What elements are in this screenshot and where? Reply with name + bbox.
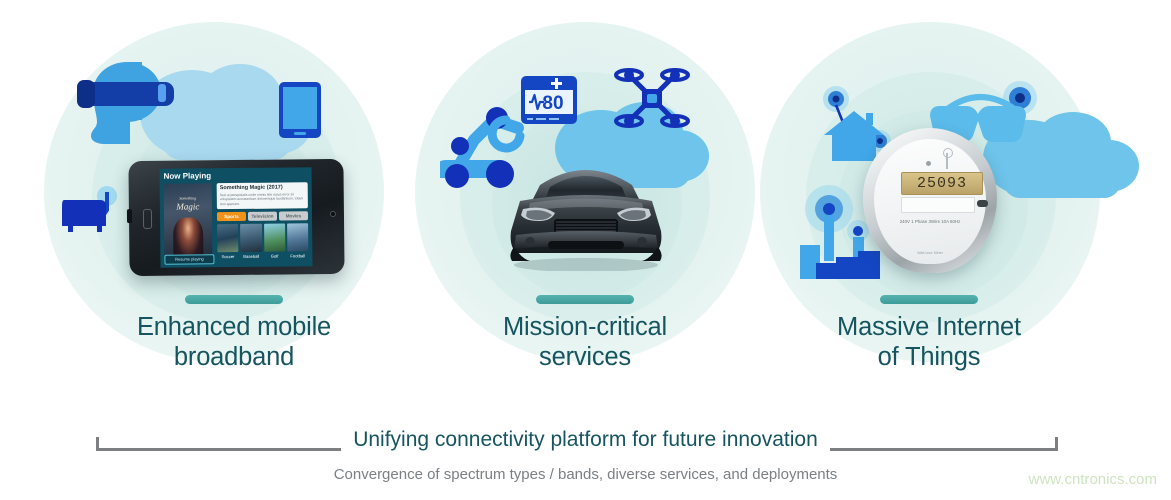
footer-subtitle: Convergence of spectrum types / bands, d… xyxy=(0,466,1171,483)
smartphone-device: Now Playing Something Magic Resume playi… xyxy=(128,159,344,276)
phone-home-button[interactable] xyxy=(143,209,152,229)
footer-title: Unifying connectivity platform for futur… xyxy=(341,428,830,451)
thumbnail-image xyxy=(217,224,239,252)
patient-monitor-icon: 80 xyxy=(521,76,577,124)
meter-probe-icon xyxy=(946,153,948,169)
tv-antenna-icon xyxy=(62,186,118,236)
pillar-mc-accent-bar xyxy=(536,295,634,304)
pillar-embb-label-line2: broadband xyxy=(84,342,384,372)
pillar-mc-label-line1: Mission-critical xyxy=(435,312,735,342)
car-image xyxy=(500,143,672,271)
pillar-embb-label-line1: Enhanced mobile xyxy=(84,312,384,342)
drone-icon xyxy=(613,63,691,135)
thumbnail-row: Soccer Baseball Golf Football xyxy=(217,223,308,258)
tab-sports[interactable]: Sports xyxy=(217,212,246,221)
meter-label-slot xyxy=(901,197,975,213)
pillar-miot-label-line1: Massive Internet xyxy=(779,312,1079,342)
meter-indicator-dot xyxy=(926,161,931,166)
category-tabs: Sports Television Movies xyxy=(217,211,308,221)
poster-main-title: Magic xyxy=(176,201,199,211)
thumbnail-caption: Football xyxy=(287,253,308,258)
poster-title: Something Magic xyxy=(167,193,209,211)
meter-brand-text: Watt-hour Meter xyxy=(874,251,986,255)
monitor-reading: 80 xyxy=(542,93,563,114)
now-playing-heading: Now Playing xyxy=(164,171,212,180)
thumbnail-caption: Soccer xyxy=(217,253,238,258)
meter-face: 25093 240V 1 Phase 3Wire 10A 60Hz Watt-h… xyxy=(874,139,986,264)
movie-info-body: Sed ut perspiciatis unde omnis iste natu… xyxy=(220,192,305,206)
vr-headset-head-icon xyxy=(74,58,180,154)
movie-info-title: Something Magic (2017) xyxy=(220,184,305,191)
thumbnail-caption: Baseball xyxy=(241,253,262,258)
pillar-embb-accent-bar xyxy=(185,295,283,304)
tablet-icon xyxy=(279,82,321,138)
thumbnail-baseball[interactable]: Baseball xyxy=(240,224,262,259)
pillar-mc-label: Mission-critical services xyxy=(435,312,735,372)
tab-movies[interactable]: Movies xyxy=(279,211,308,220)
thumbnail-caption: Golf xyxy=(264,253,285,258)
meter-reading: 25093 xyxy=(917,175,967,192)
movie-info-card: Something Magic (2017) Sed ut perspiciat… xyxy=(217,182,308,209)
phone-camera-lens xyxy=(330,211,336,217)
pillar-miot-label-line2: of Things xyxy=(779,342,1079,372)
meter-optical-port xyxy=(977,200,988,207)
tab-television[interactable]: Television xyxy=(248,212,277,221)
pillar-embb-label: Enhanced mobile broadband xyxy=(84,312,384,372)
thumbnail-image xyxy=(264,223,286,251)
thumbnail-golf[interactable]: Golf xyxy=(264,223,286,258)
thumbnail-soccer[interactable]: Soccer xyxy=(217,224,239,259)
thumbnail-football[interactable]: Football xyxy=(287,223,309,258)
phone-screen[interactable]: Now Playing Something Magic Resume playi… xyxy=(159,167,312,268)
watermark: www.cntronics.com xyxy=(1029,471,1157,488)
meter-spec-text: 240V 1 Phase 3Wire 10A 60Hz xyxy=(874,219,986,224)
pillar-mc-label-line2: services xyxy=(435,342,735,372)
meter-lcd-display: 25093 xyxy=(901,172,983,195)
phone-side-button[interactable] xyxy=(127,209,132,223)
footer-title-wrap: Unifying connectivity platform for futur… xyxy=(0,428,1171,452)
pillar-miot-accent-bar xyxy=(880,295,978,304)
smart-meter-image: 25093 240V 1 Phase 3Wire 10A 60Hz Watt-h… xyxy=(863,128,997,273)
movie-poster[interactable]: Something Magic xyxy=(164,183,213,263)
resume-playing-button[interactable]: Resume playing xyxy=(164,254,214,265)
infographic-canvas: Now Playing Something Magic Resume playi… xyxy=(0,0,1171,500)
thumbnail-image xyxy=(287,223,309,251)
pillar-miot-label: Massive Internet of Things xyxy=(779,312,1079,372)
thumbnail-image xyxy=(240,224,262,252)
